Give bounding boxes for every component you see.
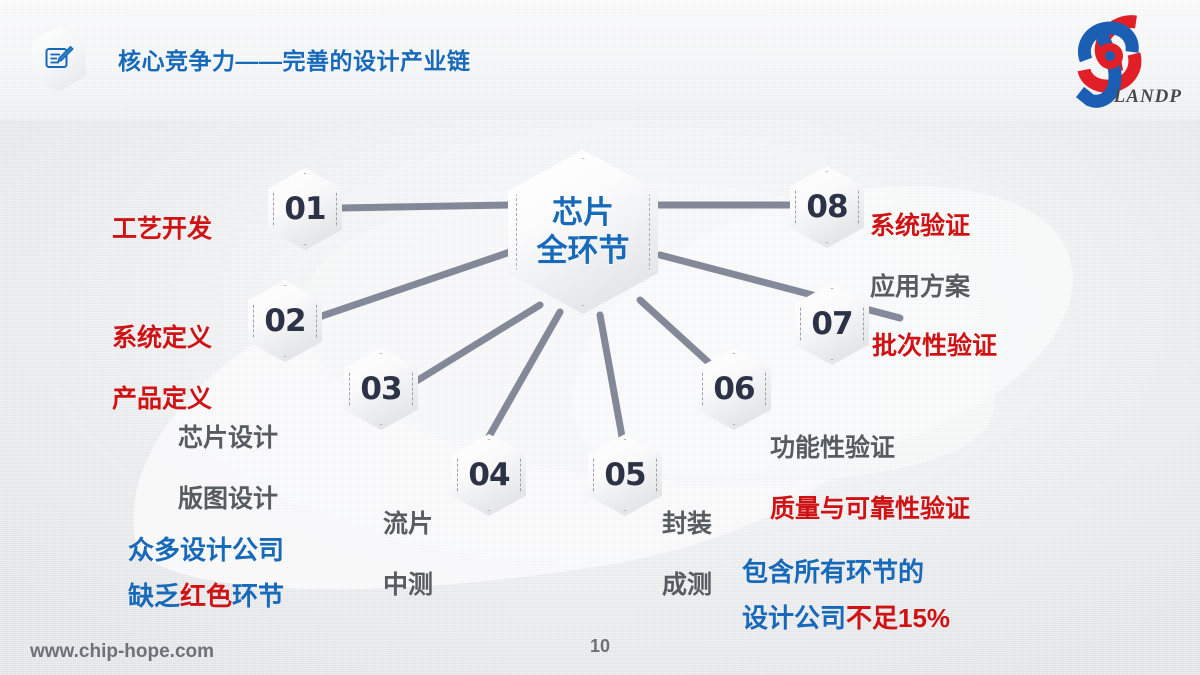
- node-label-01-line1: 工艺开发: [112, 214, 212, 245]
- connector-03: [410, 305, 540, 385]
- note-right-line1: 包含所有环节的: [742, 550, 950, 596]
- node-label-04: 流片 中测: [383, 478, 433, 631]
- note-left-line2-b: 红色: [180, 581, 232, 611]
- node-label-07-line1: 批次性验证: [872, 331, 997, 362]
- slide-canvas: 核心竞争力——完善的设计产业链 LANDP 芯片 全环节: [0, 0, 1200, 675]
- node-number-02: 02: [264, 303, 305, 339]
- node-label-04-line2: 中测: [383, 570, 433, 601]
- connector-05: [600, 315, 623, 442]
- node-number-06: 06: [713, 371, 754, 407]
- hub-label: 芯片 全环节: [537, 194, 630, 270]
- node-label-04-line1: 流片: [383, 509, 433, 540]
- node-label-06-line2: 质量与可靠性验证: [770, 494, 970, 525]
- node-label-03: 芯片设计 版图设计: [178, 392, 278, 545]
- note-left-line2: 缺乏红色环节: [128, 574, 284, 620]
- hub-label-line1: 芯片: [537, 194, 630, 232]
- note-right: 包含所有环节的 设计公司不足15%: [742, 550, 950, 641]
- node-label-05-line1: 封装: [662, 509, 712, 540]
- note-right-line2-b: 不足15%: [846, 603, 950, 633]
- node-number-05: 05: [604, 457, 645, 493]
- note-left-line2-a: 缺乏: [128, 581, 180, 611]
- hub-label-line2: 全环节: [537, 232, 630, 270]
- note-left-line1: 众多设计公司: [128, 528, 284, 574]
- note-right-line2-a: 设计公司: [742, 603, 846, 633]
- note-right-line2: 设计公司不足15%: [742, 596, 950, 642]
- connector-01: [340, 205, 512, 208]
- node-label-05-line2: 成测: [662, 570, 712, 601]
- node-number-07: 07: [811, 306, 852, 342]
- node-label-02-line1: 系统定义: [112, 323, 212, 354]
- node-number-01: 01: [284, 191, 325, 227]
- node-label-08-line2: 应用方案: [870, 272, 970, 303]
- node-label-06: 功能性验证 质量与可靠性验证: [770, 402, 970, 555]
- node-label-01: 工艺开发: [112, 183, 212, 275]
- node-number-08: 08: [806, 189, 847, 225]
- node-label-03-line1: 芯片设计: [178, 423, 278, 454]
- page-number: 10: [0, 636, 1200, 657]
- node-label-08-line1: 系统验证: [870, 211, 970, 242]
- note-left-line2-c: 环节: [232, 581, 284, 611]
- node-label-05: 封装 成测: [662, 478, 712, 631]
- node-number-04: 04: [468, 457, 509, 493]
- node-number-03: 03: [360, 371, 401, 407]
- node-label-08: 系统验证 应用方案: [870, 180, 970, 333]
- node-label-03-line2: 版图设计: [178, 484, 278, 515]
- node-label-06-line1: 功能性验证: [770, 433, 970, 464]
- connector-02: [316, 250, 516, 318]
- note-left: 众多设计公司 缺乏红色环节: [128, 528, 284, 619]
